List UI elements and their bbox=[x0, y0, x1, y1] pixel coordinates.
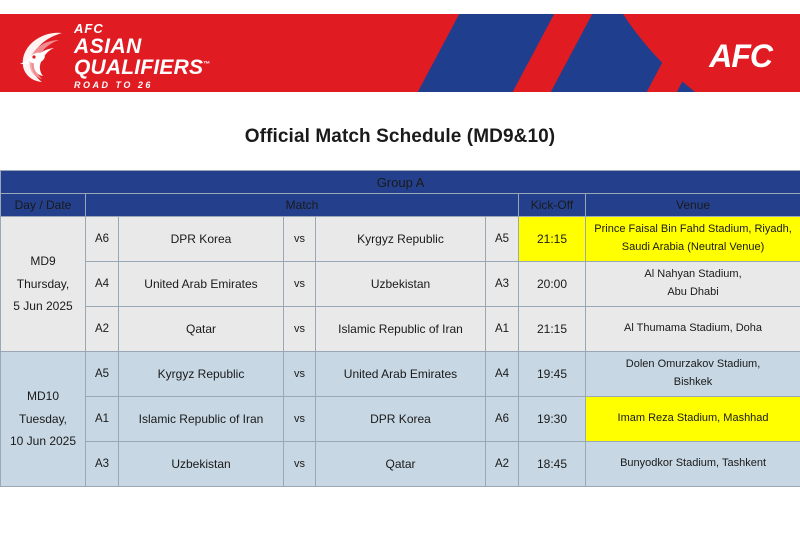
kickoff-time: 21:15 bbox=[519, 217, 586, 262]
away-team: United Arab Emirates bbox=[316, 352, 486, 397]
afc-asian-qualifiers-logo: AFC ASIAN QUALIFIERS™ ROAD TO 26 bbox=[18, 22, 210, 90]
table-row: MD10 Tuesday, 10 Jun 2025 A5 Kyrgyz Repu… bbox=[1, 352, 800, 397]
page-title: Official Match Schedule (MD9&10) bbox=[0, 98, 800, 170]
matchday-label-md10: MD10 Tuesday, 10 Jun 2025 bbox=[1, 352, 86, 487]
home-code: A4 bbox=[86, 262, 119, 307]
home-team: Qatar bbox=[119, 307, 284, 352]
vs-label: vs bbox=[284, 442, 316, 487]
venue: Imam Reza Stadium, Mashhad bbox=[586, 397, 800, 442]
venue: Dolen Omurzakov Stadium, Bishkek bbox=[586, 352, 800, 397]
afc-wordmark: AFC bbox=[709, 38, 772, 75]
logo-text-asian: ASIAN bbox=[74, 36, 210, 57]
away-code: A3 bbox=[486, 262, 519, 307]
away-code: A1 bbox=[486, 307, 519, 352]
home-code: A1 bbox=[86, 397, 119, 442]
column-header-kickoff: Kick-Off bbox=[519, 194, 586, 217]
matchday-id: MD9 bbox=[1, 250, 85, 273]
home-team: Islamic Republic of Iran bbox=[119, 397, 284, 442]
matchday-date: 10 Jun 2025 bbox=[1, 430, 85, 453]
logo-text-road-to-26: ROAD TO 26 bbox=[74, 81, 210, 90]
vs-label: vs bbox=[284, 352, 316, 397]
kickoff-time: 19:45 bbox=[519, 352, 586, 397]
away-team: Uzbekistan bbox=[316, 262, 486, 307]
home-code: A2 bbox=[86, 307, 119, 352]
table-row: A2 Qatar vs Islamic Republic of Iran A1 … bbox=[1, 307, 800, 352]
afc-falcon-logo-icon bbox=[18, 27, 66, 85]
logo-trademark: ™ bbox=[203, 61, 210, 68]
home-code: A3 bbox=[86, 442, 119, 487]
group-header-cell: Group A bbox=[1, 171, 800, 194]
kickoff-time: 21:15 bbox=[519, 307, 586, 352]
venue-line-2: Saudi Arabia (Neutral Venue) bbox=[586, 239, 800, 257]
venue: Prince Faisal Bin Fahd Stadium, Riyadh, … bbox=[586, 217, 800, 262]
venue: Al Nahyan Stadium, Abu Dhabi bbox=[586, 262, 800, 307]
column-header-day-date: Day / Date bbox=[1, 194, 86, 217]
matchday-weekday: Tuesday, bbox=[1, 408, 85, 431]
venue-line-2: Bishkek bbox=[586, 374, 800, 392]
vs-label: vs bbox=[284, 307, 316, 352]
venue-line-1: Al Nahyan Stadium, bbox=[586, 266, 800, 284]
away-team: Islamic Republic of Iran bbox=[316, 307, 486, 352]
kickoff-time: 20:00 bbox=[519, 262, 586, 307]
group-header-row: Group A bbox=[1, 171, 800, 194]
table-row: A3 Uzbekistan vs Qatar A2 18:45 Bunyodko… bbox=[1, 442, 800, 487]
away-team: DPR Korea bbox=[316, 397, 486, 442]
venue-line-1: Prince Faisal Bin Fahd Stadium, Riyadh, bbox=[586, 221, 800, 239]
vs-label: vs bbox=[284, 217, 316, 262]
match-schedule-table: Group A Day / Date Match Kick-Off Venue … bbox=[0, 170, 800, 487]
home-code: A6 bbox=[86, 217, 119, 262]
home-team: DPR Korea bbox=[119, 217, 284, 262]
away-team: Qatar bbox=[316, 442, 486, 487]
home-team: Kyrgyz Republic bbox=[119, 352, 284, 397]
venue-line-2: Abu Dhabi bbox=[586, 284, 800, 302]
home-team: United Arab Emirates bbox=[119, 262, 284, 307]
table-row: A1 Islamic Republic of Iran vs DPR Korea… bbox=[1, 397, 800, 442]
home-team: Uzbekistan bbox=[119, 442, 284, 487]
logo-text-afc: AFC bbox=[74, 22, 210, 35]
venue-line-1: Al Thumama Stadium, Doha bbox=[586, 320, 800, 338]
matchday-date: 5 Jun 2025 bbox=[1, 295, 85, 318]
matchday-label-md9: MD9 Thursday, 5 Jun 2025 bbox=[1, 217, 86, 352]
vs-label: vs bbox=[284, 262, 316, 307]
matchday-id: MD10 bbox=[1, 385, 85, 408]
afc-asian-qualifiers-banner: AFC ASIAN QUALIFIERS™ ROAD TO 26 AFC bbox=[0, 14, 800, 92]
away-code: A4 bbox=[486, 352, 519, 397]
logo-text-qualifiers: QUALIFIERS bbox=[74, 56, 203, 79]
table-row: MD9 Thursday, 5 Jun 2025 A6 DPR Korea vs… bbox=[1, 217, 800, 262]
column-header-venue: Venue bbox=[586, 194, 800, 217]
venue-line-1: Imam Reza Stadium, Mashhad bbox=[586, 410, 800, 428]
away-code: A5 bbox=[486, 217, 519, 262]
away-code: A6 bbox=[486, 397, 519, 442]
venue-line-1: Dolen Omurzakov Stadium, bbox=[586, 356, 800, 374]
vs-label: vs bbox=[284, 397, 316, 442]
column-header-row: Day / Date Match Kick-Off Venue bbox=[1, 194, 800, 217]
column-header-match: Match bbox=[86, 194, 519, 217]
home-code: A5 bbox=[86, 352, 119, 397]
away-team: Kyrgyz Republic bbox=[316, 217, 486, 262]
venue: Al Thumama Stadium, Doha bbox=[586, 307, 800, 352]
kickoff-time: 19:30 bbox=[519, 397, 586, 442]
venue-line-1: Bunyodkor Stadium, Tashkent bbox=[586, 455, 800, 473]
away-code: A2 bbox=[486, 442, 519, 487]
matchday-weekday: Thursday, bbox=[1, 273, 85, 296]
table-row: A4 United Arab Emirates vs Uzbekistan A3… bbox=[1, 262, 800, 307]
kickoff-time: 18:45 bbox=[519, 442, 586, 487]
page-banner: AFC ASIAN QUALIFIERS™ ROAD TO 26 AFC bbox=[0, 0, 800, 98]
venue: Bunyodkor Stadium, Tashkent bbox=[586, 442, 800, 487]
